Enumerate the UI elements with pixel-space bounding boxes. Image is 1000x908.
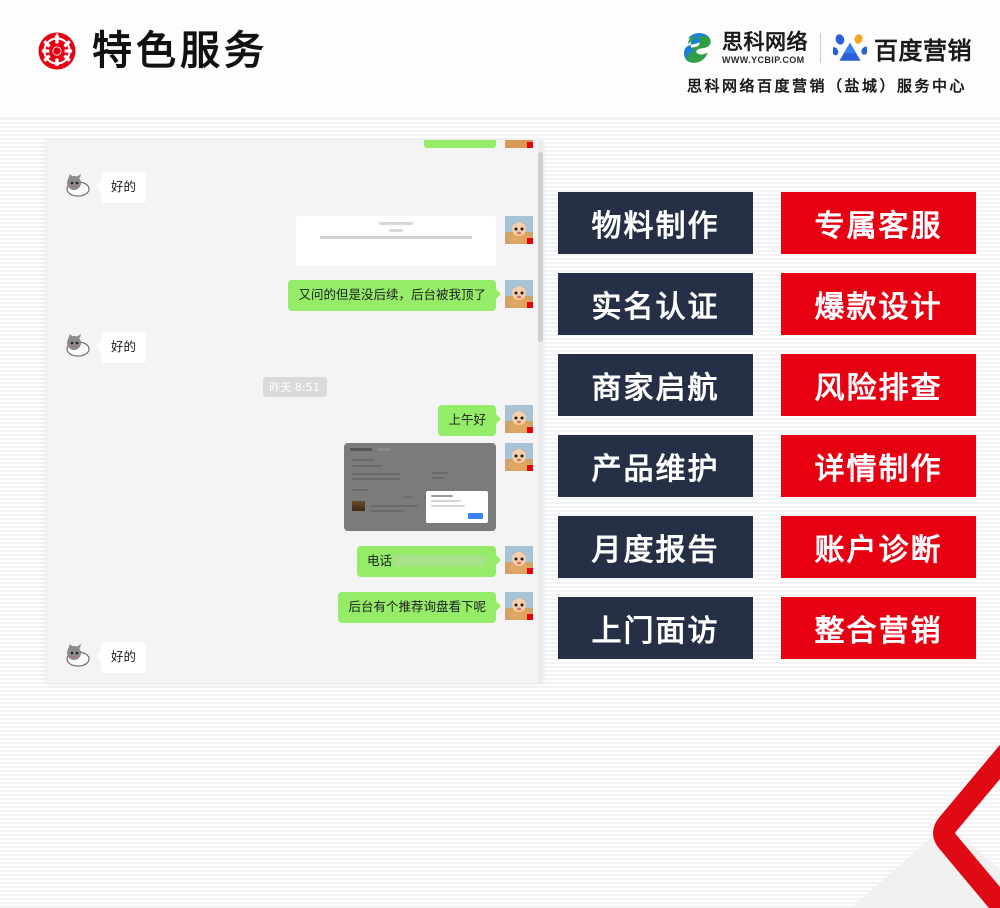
page-title: 特色服务 (92, 31, 268, 71)
avatar-shinchan-icon (505, 405, 533, 433)
decorative-chevron-icon (830, 738, 1000, 908)
chat-bubble-screenshot-card[interactable] (344, 443, 496, 531)
chat-message-right (296, 216, 533, 266)
chat-message-left: 好的 (64, 332, 146, 363)
service-button-material-production[interactable]: 物料制作 (558, 192, 753, 254)
avatar-cat-icon (64, 642, 92, 670)
sike-text: 思科网络 WWW.YCBIP.COM (722, 32, 808, 65)
service-center-line: 思科网络百度营销（盐城）服务中心 (682, 75, 972, 96)
service-button-onsite-visit[interactable]: 上门面访 (558, 597, 753, 659)
logo-divider (820, 33, 821, 63)
avatar-shinchan-icon (505, 216, 533, 244)
chat-bubble-image-card[interactable] (296, 216, 496, 266)
gear-icon (36, 30, 78, 72)
avatar-cat-icon (64, 332, 92, 360)
brand-right: 思科网络 WWW.YCBIP.COM (682, 28, 972, 96)
avatar (505, 140, 533, 148)
service-button-grid: 物料制作 专属客服 实名认证 爆款设计 商家启航 风险排查 产品维护 详情制作 … (558, 192, 976, 659)
chat-bubble-text-redacted: 电话 (357, 546, 496, 577)
chat-bubble-label: 电话 (367, 553, 392, 568)
chat-message-right: 又问的但是没后续，后台被我顶了 (288, 280, 533, 311)
chat-message-right (344, 443, 533, 531)
avatar-cat-icon (64, 172, 92, 200)
baidu-name: 百度营销 (874, 31, 972, 66)
chat-message-left: 好的 (64, 172, 146, 203)
redacted-block (394, 555, 486, 566)
chat-message-left: 好的 (64, 642, 146, 673)
sike-logo: 思科网络 WWW.YCBIP.COM (682, 31, 808, 65)
chat-bubble-text: 又问的但是没后续，后台被我顶了 (288, 280, 496, 311)
service-button-real-name-verify[interactable]: 实名认证 (558, 273, 753, 335)
chat-bubble-text: 后台有个推荐询盘看下呢 (338, 592, 496, 623)
service-button-merchant-launch[interactable]: 商家启航 (558, 354, 753, 416)
avatar-shinchan-icon (505, 280, 533, 308)
service-button-hit-product-design[interactable]: 爆款设计 (781, 273, 976, 335)
logo-row: 思科网络 WWW.YCBIP.COM (682, 28, 972, 68)
chat-message-right: 后台有个推荐询盘看下呢 (338, 592, 533, 623)
chat-bubble-text: 好的 (101, 332, 146, 363)
sike-url: WWW.YCBIP.COM (722, 56, 805, 65)
avatar-shinchan-icon (505, 546, 533, 574)
chat-bubble-cutoff (424, 140, 496, 148)
service-button-detail-page-design[interactable]: 详情制作 (781, 435, 976, 497)
chat-timestamp: 昨天 8:51 (262, 377, 326, 397)
baidu-logo: 百度营销 (833, 31, 972, 66)
service-button-risk-screening[interactable]: 风险排查 (781, 354, 976, 416)
service-button-dedicated-support[interactable]: 专属客服 (781, 192, 976, 254)
brand-left: 特色服务 (36, 30, 268, 72)
service-button-monthly-report[interactable]: 月度报告 (558, 516, 753, 578)
service-button-account-diagnosis[interactable]: 账户诊断 (781, 516, 976, 578)
avatar-shinchan-icon (505, 443, 533, 471)
chat-bubble-text: 上午好 (438, 405, 496, 436)
chat-message-right: 上午好 (438, 405, 533, 436)
service-button-product-maintenance[interactable]: 产品维护 (558, 435, 753, 497)
sike-swirl-icon (682, 31, 716, 65)
avatar-shinchan-icon (505, 592, 533, 620)
chat-thread: 好的 (46, 140, 543, 683)
chat-bubble-text: 好的 (101, 172, 146, 203)
chat-message-right: 电话 (357, 546, 533, 577)
page-header: 特色服务 思科网络 WWW.YCBIP.COM (0, 0, 1000, 118)
chat-scrollbar-thumb[interactable] (538, 152, 543, 342)
chat-scrollbar-track[interactable] (538, 140, 543, 683)
chat-screenshot-panel: 好的 (46, 140, 543, 683)
service-button-integrated-marketing[interactable]: 整合营销 (781, 597, 976, 659)
baidu-bear-icon (833, 33, 867, 63)
sike-name: 思科网络 (722, 32, 808, 53)
page-root: 特色服务 思科网络 WWW.YCBIP.COM (0, 0, 1000, 908)
chat-bubble-text: 好的 (101, 642, 146, 673)
